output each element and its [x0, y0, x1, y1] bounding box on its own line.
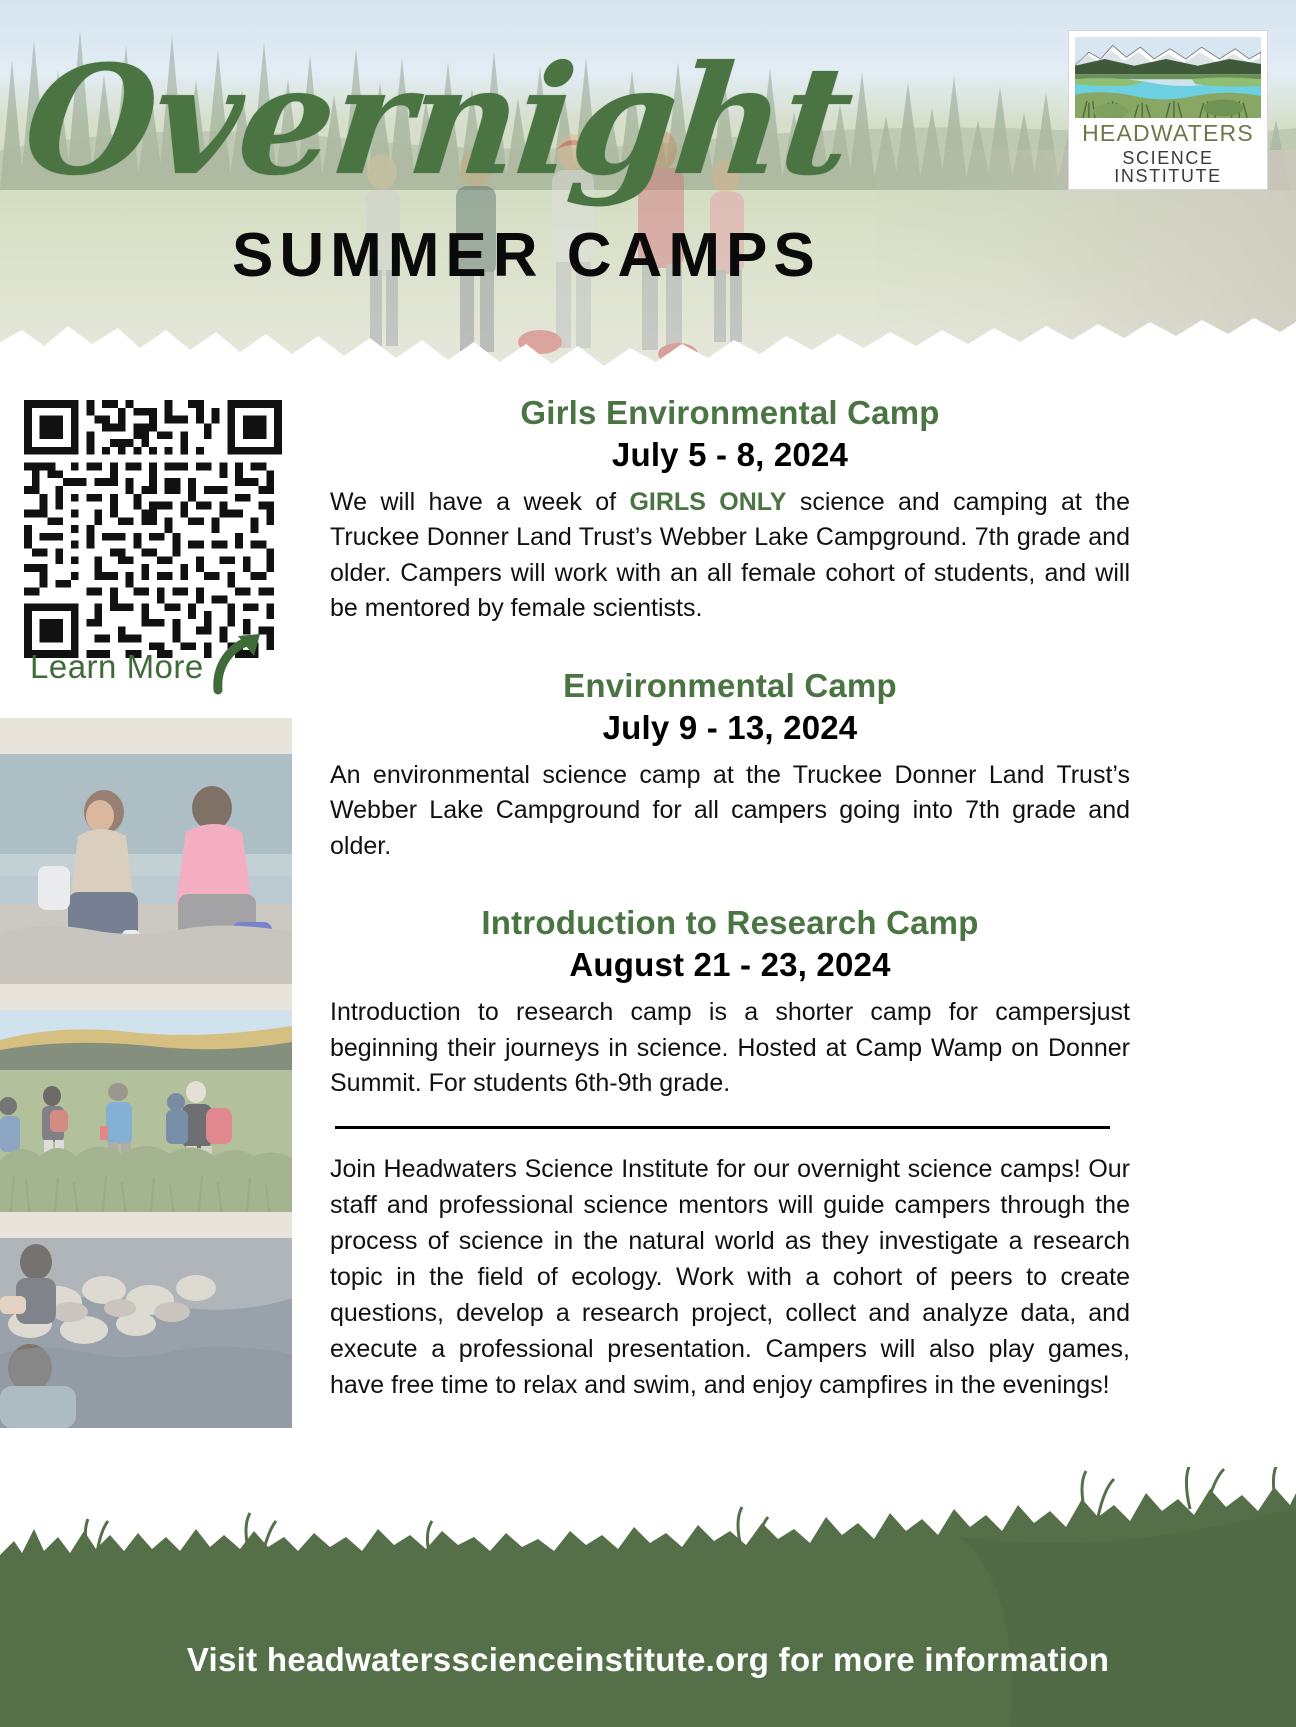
camp-block-environmental: Environmental Camp July 9 - 13, 2024 An …: [330, 665, 1130, 864]
camp-description-highlight: GIRLS ONLY: [629, 488, 786, 516]
photo-overlay-veil: [0, 1238, 292, 1428]
logo-landscape-illustration: [1075, 37, 1261, 118]
logo-wordmark-secondary: SCIENCE INSTITUTE: [1075, 149, 1261, 185]
headwaters-logo: HEADWATERS SCIENCE INSTITUTE: [1068, 30, 1268, 190]
camp-date: July 5 - 8, 2024: [330, 435, 1130, 475]
photo-overlay-veil: [0, 754, 292, 992]
hero-banner: Overnight SUMMER CAMPS: [0, 0, 1296, 372]
camp-description-before: We will have a week of: [330, 488, 629, 516]
photo-strip: [0, 718, 292, 1418]
grass-silhouette: [0, 1467, 1296, 1727]
camp-description: An environmental science camp at the Tru…: [330, 758, 1130, 865]
curved-arrow-icon: [212, 630, 272, 696]
camp-block-intro-research: Introduction to Research Camp August 21 …: [330, 902, 1130, 1101]
footer-website-text: Visit headwatersscienceinstitute.org for…: [0, 1641, 1296, 1679]
photo-hikers-in-meadow: [0, 1010, 292, 1220]
footer-banner: Visit headwatersscienceinstitute.org for…: [0, 1467, 1296, 1727]
hero-script-title: Overnight: [18, 46, 857, 196]
flyer-page: Overnight SUMMER CAMPS: [0, 0, 1296, 1727]
camp-title: Environmental Camp: [330, 665, 1130, 706]
qr-code[interactable]: [24, 400, 282, 658]
qr-code-image[interactable]: [24, 400, 282, 658]
camp-title: Introduction to Research Camp: [330, 902, 1130, 943]
camp-description: We will have a week of GIRLS ONLY scienc…: [330, 485, 1130, 627]
learn-more-label: Learn More: [30, 648, 204, 686]
hero-main-title: SUMMER CAMPS: [232, 225, 821, 287]
camp-block-girls-environmental: Girls Environmental Camp July 5 - 8, 202…: [330, 392, 1130, 627]
camp-title: Girls Environmental Camp: [330, 392, 1130, 433]
main-content: Girls Environmental Camp July 5 - 8, 202…: [330, 392, 1130, 1403]
photo-campers-at-lake: [0, 754, 292, 992]
intro-paragraph: Join Headwaters Science Institute for ou…: [330, 1151, 1130, 1403]
camp-date: July 9 - 13, 2024: [330, 708, 1130, 748]
camp-description: Introduction to research camp is a short…: [330, 995, 1130, 1102]
logo-wordmark-primary: HEADWATERS: [1075, 122, 1261, 145]
section-divider: [335, 1126, 1110, 1129]
photo-stream-rocks: [0, 1238, 292, 1428]
photo-overlay-veil: [0, 1010, 292, 1220]
camp-date: August 21 - 23, 2024: [330, 945, 1130, 985]
